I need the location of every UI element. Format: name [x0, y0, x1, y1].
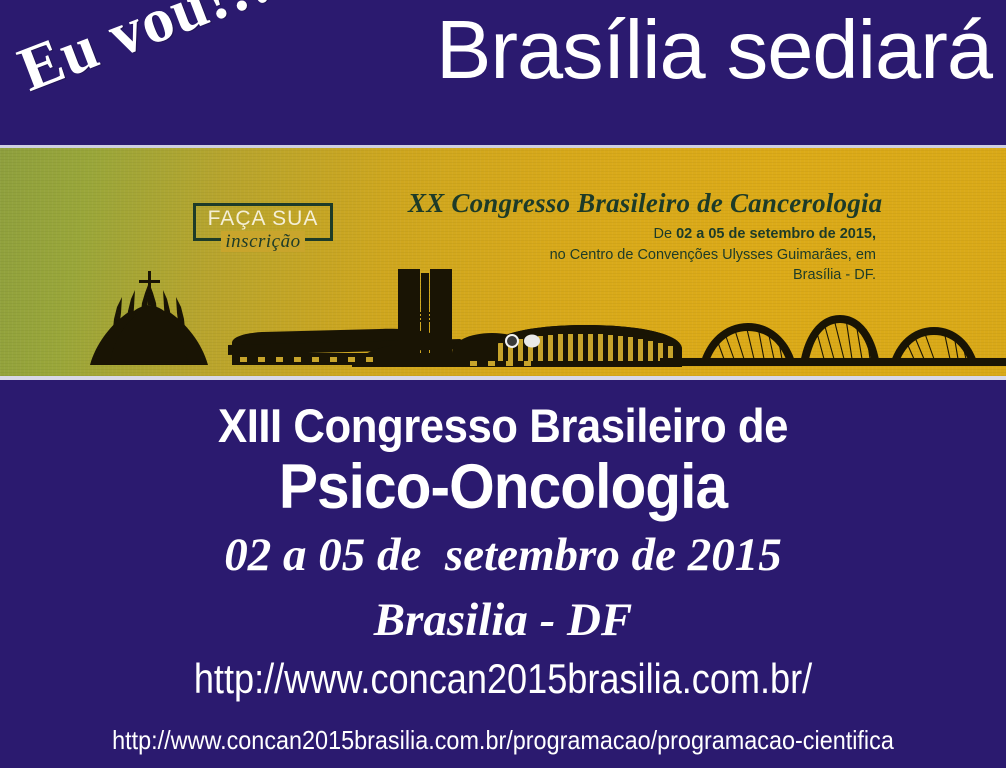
- banner-city-line: Brasília - DF.: [446, 265, 876, 286]
- banner-event-details: De 02 a 05 de setembro de 2015, no Centr…: [446, 224, 876, 286]
- page-title: Brasília sediará: [436, 6, 992, 93]
- event-date: 02 a 05 de setembro de 2015: [0, 532, 1006, 579]
- banner-date-prefix: De: [654, 226, 677, 242]
- eu-vou-annotation: Eu vou!!!: [9, 0, 281, 107]
- event-number-line: XIII Congresso Brasileiro de: [35, 402, 971, 449]
- jk-bridge-icon: [660, 315, 1006, 366]
- banner-venue-line: no Centro de Convenções Ulysses Guimarãe…: [446, 245, 876, 266]
- event-city: Brasilia - DF: [0, 597, 1006, 644]
- main-content: XIII Congresso Brasileiro de Psico-Oncol…: [0, 380, 1006, 768]
- primary-url-link[interactable]: http://www.concan2015brasilia.com.br/: [70, 658, 935, 700]
- stadium-lamp-2: [524, 335, 540, 348]
- inscription-cta-line1: FAÇA SUA: [196, 208, 330, 229]
- header-band: Eu vou!!! Brasília sediará: [0, 0, 1006, 145]
- banner-date-line: De 02 a 05 de setembro de 2015,: [446, 224, 876, 245]
- banner-event-title: XX Congresso Brasileiro de Cancerologia: [408, 188, 882, 219]
- banner-date-value: 02 a 05 de setembro de 2015,: [676, 226, 876, 242]
- inscription-cta-line2-wrap: inscrição: [193, 231, 333, 253]
- congress-banner: FAÇA SUA inscrição XX Congresso Brasilei…: [0, 145, 1006, 379]
- inscription-cta-line2: inscrição: [221, 231, 304, 252]
- cathedral-of-brasilia-icon: [90, 271, 208, 365]
- poster-root: Eu vou!!! Brasília sediará: [0, 0, 1006, 768]
- secondary-url-link[interactable]: http://www.concan2015brasilia.com.br/pro…: [50, 727, 955, 753]
- event-name: Psico-Oncologia: [35, 456, 971, 519]
